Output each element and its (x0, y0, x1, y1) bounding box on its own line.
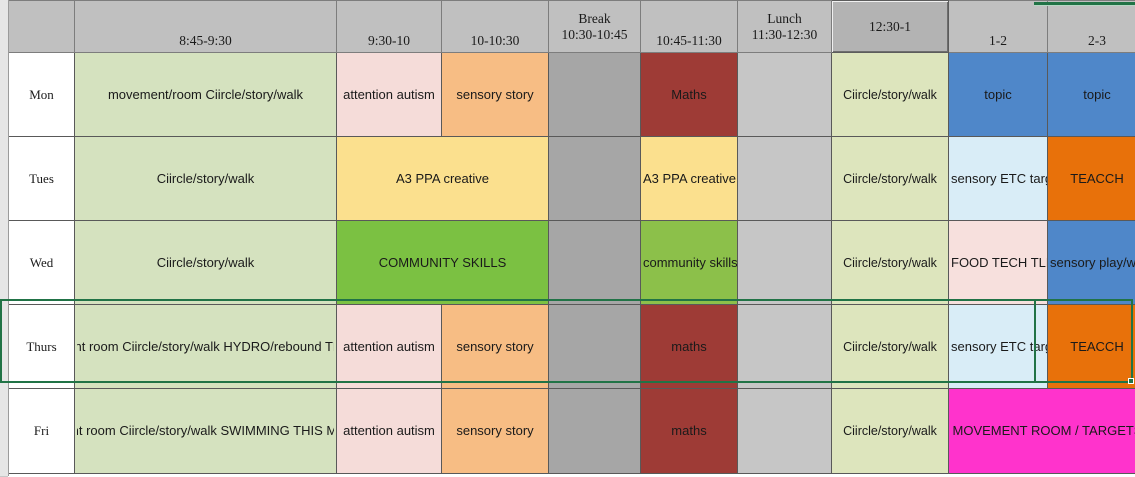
table-row: Mon movement/room Ciircle/story/walk att… (9, 53, 1135, 137)
timetable-sheet: 8:45-9:30 9:30-10 10-10:30 Break 10:30-1… (0, 0, 1135, 476)
table-row: Tues Ciircle/story/walk A3 PPA creative … (9, 137, 1135, 221)
cell-fri-930-10-clip: attention autism (339, 389, 439, 473)
timetable[interactable]: 8:45-9:30 9:30-10 10-10:30 Break 10:30-1… (8, 0, 1135, 474)
selection-top-edge (1034, 5, 1135, 6)
column-header-lunch[interactable]: Lunch 11:30-12:30 (738, 1, 832, 53)
cell-mon-1045-1130[interactable]: Maths (641, 53, 738, 137)
cell-wed-1045-1130[interactable]: community skills (641, 221, 738, 305)
cell-mon-1230-1[interactable]: Ciircle/story/walk (832, 53, 949, 137)
cell-thurs-1230-1-text: Ciircle/story/walk (843, 340, 937, 355)
cell-tues-845-930[interactable]: Ciircle/story/walk (75, 137, 337, 221)
cell-fri-1230-1[interactable]: Ciircle/story/walk (832, 389, 949, 474)
cell-thurs-10-1030[interactable]: sensory story (442, 305, 549, 389)
header-corner[interactable] (9, 1, 75, 53)
column-header-2-3[interactable]: 2-3 (1048, 1, 1135, 53)
cell-fri-1230-1-text: Ciircle/story/walk (843, 424, 937, 439)
cell-thurs-845-930[interactable]: movement room Ciircle/story/walk HYDRO/r… (75, 305, 337, 389)
cell-fri-1045-1130[interactable]: maths (641, 389, 738, 474)
cell-thurs-845-930-clip: movement room Ciircle/story/walk HYDRO/r… (77, 305, 334, 388)
column-header-break[interactable]: Break 10:30-10:45 (549, 1, 641, 53)
cell-thurs-1-2[interactable]: sensory ETC targets/topic work (949, 305, 1048, 389)
cell-fri-break[interactable] (549, 389, 641, 474)
column-header-930-10[interactable]: 9:30-10 (337, 1, 442, 53)
col-label-10-1030: 10-10:30 (444, 33, 546, 49)
row-header-mon[interactable]: Mon (9, 53, 75, 137)
row-header-thurs[interactable]: Thurs (9, 305, 75, 389)
cell-mon-10-1030[interactable]: sensory story (442, 53, 549, 137)
timetable-header-row: 8:45-9:30 9:30-10 10-10:30 Break 10:30-1… (9, 1, 1135, 53)
cell-wed-845-930[interactable]: Ciircle/story/walk (75, 221, 337, 305)
cell-thurs-930-10-text: attention autism (343, 339, 435, 354)
col-label-lunch-title: Lunch (740, 11, 829, 27)
col-label-1230-1: 12:30-1 (834, 19, 946, 35)
cell-tues-lunch[interactable] (738, 137, 832, 221)
cell-fri-930-10[interactable]: attention autism (337, 389, 442, 474)
col-label-2-3: 2-3 (1050, 33, 1135, 49)
cell-mon-1230-1-text: Ciircle/story/walk (843, 88, 937, 103)
col-label-break-title: Break (551, 11, 638, 27)
cell-thurs-1045-1130[interactable]: maths (641, 305, 738, 389)
cell-wed-1-2[interactable]: FOOD TECH TLR TIME (949, 221, 1048, 305)
row-header-fri[interactable]: Fri (9, 389, 75, 474)
cell-thurs-2-3[interactable]: TEACCH (1048, 305, 1135, 389)
cell-thurs-930-10-clip: attention autism (339, 305, 439, 388)
column-header-1-2[interactable]: 1-2 (949, 1, 1048, 53)
cell-thurs-1230-1[interactable]: Ciircle/story/walk (832, 305, 949, 389)
table-row: Thurs movement room Ciircle/story/walk H… (9, 305, 1135, 389)
cell-wed-lunch[interactable] (738, 221, 832, 305)
col-label-break-time: 10:30-10:45 (551, 27, 638, 43)
cell-mon-break[interactable] (549, 53, 641, 137)
column-header-1045-1130[interactable]: 10:45-11:30 (641, 1, 738, 53)
col-label-1045-1130: 10:45-11:30 (643, 33, 735, 49)
cell-fri-10-1030[interactable]: sensory story (442, 389, 549, 474)
selection-fill-handle[interactable] (1128, 378, 1134, 384)
table-row: Wed Ciircle/story/walk COMMUNITY SKILLS … (9, 221, 1135, 305)
cell-mon-2-3[interactable]: topic (1048, 53, 1135, 137)
cell-wed-2-3[interactable]: sensory play/writing activities TLR TIME (1048, 221, 1135, 305)
cell-thurs-845-930-text: movement room Ciircle/story/walk HYDRO/r… (77, 339, 334, 354)
column-header-10-1030[interactable]: 10-10:30 (442, 1, 549, 53)
col-label-1-2: 1-2 (951, 33, 1045, 49)
table-row: Fri movement room Ciircle/story/walk SWI… (9, 389, 1135, 474)
cell-wed-break[interactable] (549, 221, 641, 305)
cell-wed-1230-1[interactable]: Ciircle/story/walk (832, 221, 949, 305)
cell-mon-lunch[interactable] (738, 53, 832, 137)
col-label-845-930: 8:45-9:30 (77, 33, 334, 49)
cell-tues-1230-1-text: Ciircle/story/walk (843, 172, 937, 187)
col-label-lunch-time: 11:30-12:30 (740, 27, 829, 43)
cell-thurs-break[interactable] (549, 305, 641, 389)
column-header-1230-1-active[interactable]: 12:30-1 (832, 1, 949, 53)
cell-thurs-lunch[interactable] (738, 305, 832, 389)
cell-tues-2-3[interactable]: TEACCH (1048, 137, 1135, 221)
cell-mon-1-2[interactable]: topic (949, 53, 1048, 137)
column-header-845-930[interactable]: 8:45-9:30 (75, 1, 337, 53)
cell-tues-930-1030-merged[interactable]: A3 PPA creative (337, 137, 549, 221)
row-header-wed[interactable]: Wed (9, 221, 75, 305)
cell-wed-1230-1-text: Ciircle/story/walk (843, 256, 937, 271)
cell-mon-930-10[interactable]: attention autism (337, 53, 442, 137)
cell-fri-1-3-merged[interactable]: MOVEMENT ROOM / TARGETS (949, 389, 1135, 474)
cell-fri-845-930-clip: movement room Ciircle/story/walk SWIMMIN… (77, 389, 334, 473)
cell-thurs-930-10[interactable]: attention autism (337, 305, 442, 389)
row-header-tues[interactable]: Tues (9, 137, 75, 221)
row-header-gutter[interactable] (0, 0, 9, 476)
cell-fri-930-10-text: attention autism (343, 423, 435, 438)
cell-tues-break[interactable] (549, 137, 641, 221)
cell-tues-1230-1[interactable]: Ciircle/story/walk (832, 137, 949, 221)
cell-tues-1045-1130[interactable]: A3 PPA creative (641, 137, 738, 221)
cell-fri-lunch[interactable] (738, 389, 832, 474)
cell-mon-845-930[interactable]: movement/room Ciircle/story/walk (75, 53, 337, 137)
cell-tues-1-2[interactable]: sensory ETC targets/topic work (949, 137, 1048, 221)
col-label-930-10: 9:30-10 (339, 33, 439, 49)
cell-fri-845-930[interactable]: movement room Ciircle/story/walk SWIMMIN… (75, 389, 337, 474)
cell-fri-845-930-text: movement room Ciircle/story/walk SWIMMIN… (77, 423, 334, 438)
cell-wed-930-1030-merged[interactable]: COMMUNITY SKILLS (337, 221, 549, 305)
